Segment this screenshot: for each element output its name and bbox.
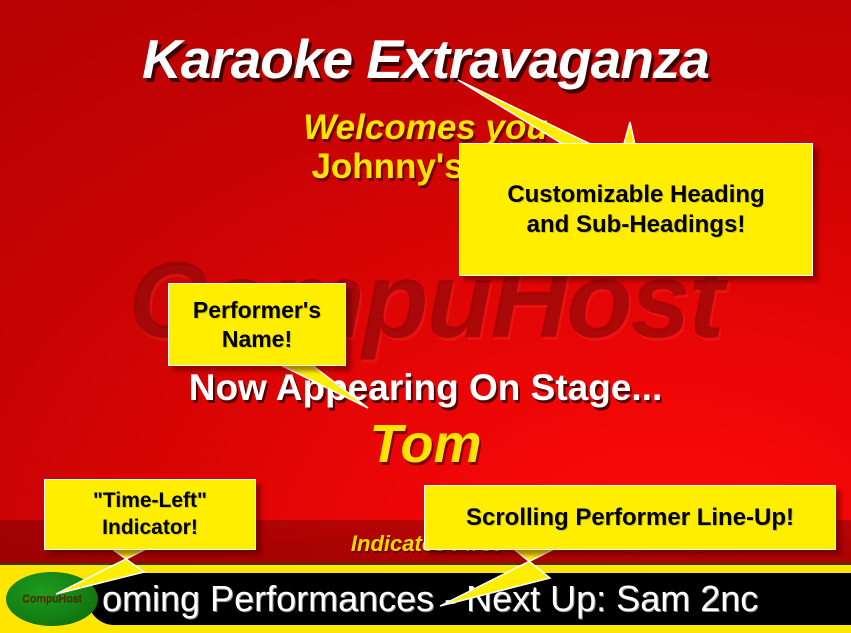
callout-performer-line1: Performer's — [193, 296, 321, 325]
callout-performer-name: Performer's Name! — [168, 283, 346, 366]
callout-scrolling-line-up: Scrolling Performer Line-Up! — [424, 485, 836, 550]
callout-timeleft-line2: Indicator! — [93, 515, 207, 541]
page-title: Karaoke Extravaganza — [0, 27, 851, 91]
callout-heading-line1: Customizable Heading — [507, 180, 764, 210]
compuhost-logo-icon: CompuHost — [6, 572, 98, 626]
ticker-bar-container: oming Performances - Next Up: Sam 2nc Co… — [0, 563, 851, 633]
now-appearing-label: Now Appearing On Stage... — [0, 367, 851, 409]
callout-performer-line2: Name! — [193, 325, 321, 354]
callout-customizable-heading: Customizable Heading and Sub-Headings! — [459, 143, 813, 276]
compuhost-logo-text: CompuHost — [22, 593, 82, 605]
ticker-text: oming Performances - Next Up: Sam 2nc — [102, 578, 758, 620]
callout-lineup-line1: Scrolling Performer Line-Up! — [466, 503, 794, 533]
karaoke-display-screen: CompuHost Karaoke Extravaganza Welcomes … — [0, 0, 851, 633]
scrolling-ticker[interactable]: oming Performances - Next Up: Sam 2nc — [88, 573, 851, 625]
callout-time-left-indicator: "Time-Left" Indicator! — [44, 479, 256, 550]
callout-timeleft-line1: "Time-Left" — [93, 488, 207, 514]
callout-heading-line2: and Sub-Headings! — [507, 210, 764, 240]
current-performer-name: Tom — [0, 413, 851, 475]
sub-title-welcome: Welcomes you — [0, 108, 851, 148]
